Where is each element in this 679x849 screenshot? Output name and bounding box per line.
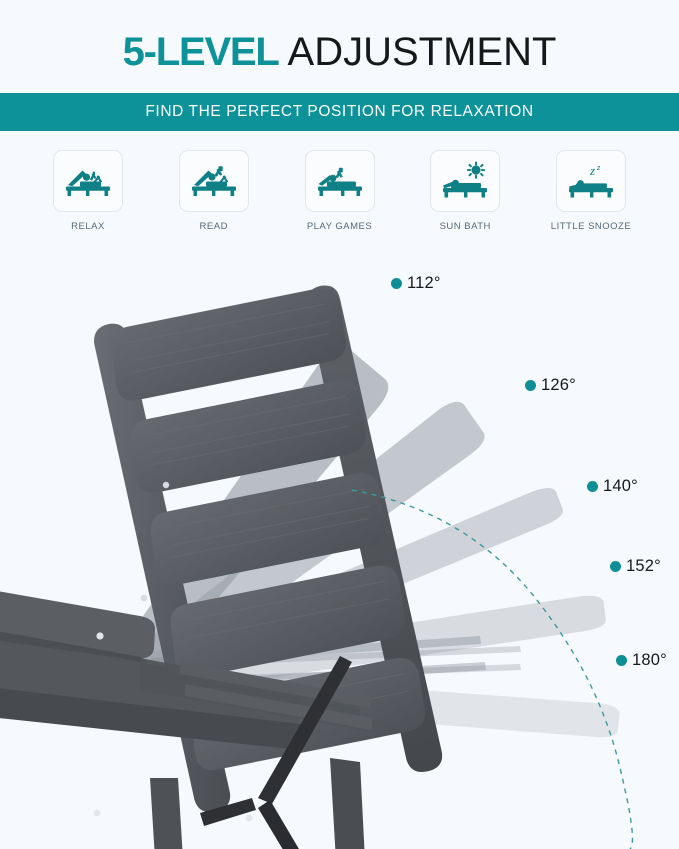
angle-dot xyxy=(610,561,621,572)
mode-item-read: READ xyxy=(162,150,266,232)
person-sleeping-zzz-icon: z z xyxy=(556,150,626,212)
subtitle-text: FIND THE PERFECT POSITION FOR RELAXATION xyxy=(145,103,533,121)
svg-text:z: z xyxy=(596,162,601,172)
angle-dot xyxy=(391,278,402,289)
angle-marker-126: 126° xyxy=(525,376,576,395)
angle-marker-180: 180° xyxy=(616,651,667,670)
subtitle-bar: FIND THE PERFECT POSITION FOR RELAXATION xyxy=(0,93,679,131)
infographic-page: 5-LEVEL ADJUSTMENT FIND THE PERFECT POSI… xyxy=(0,0,679,849)
page-title: 5-LEVEL ADJUSTMENT xyxy=(0,28,679,76)
angle-label: 126° xyxy=(541,376,576,395)
mode-item-play-games: PLAY GAMES xyxy=(288,150,392,232)
angle-marker-140: 140° xyxy=(587,477,638,496)
svg-text:z: z xyxy=(589,163,595,178)
page-title-rest: ADJUSTMENT xyxy=(279,30,557,74)
chair-recline-diagram: 112° 126° 140° 152° 180° xyxy=(0,238,679,849)
angle-dot xyxy=(616,655,627,666)
angle-dot xyxy=(525,380,536,391)
mode-item-sun-bath: SUN BATH xyxy=(413,150,517,232)
person-reading-chair-icon xyxy=(179,150,249,212)
angle-label: 140° xyxy=(603,477,638,496)
angle-label: 180° xyxy=(632,651,667,670)
chair-illustration xyxy=(0,238,679,849)
angle-marker-112: 112° xyxy=(391,274,441,293)
person-sunbathing-sun-icon xyxy=(430,150,500,212)
angle-label: 112° xyxy=(407,274,441,293)
mode-icon-row: RELAX xyxy=(36,150,643,232)
mode-label: READ xyxy=(200,221,228,232)
person-reclining-chair-icon xyxy=(53,150,123,212)
page-title-accent: 5-LEVEL xyxy=(123,30,279,74)
mode-item-relax: RELAX xyxy=(36,150,140,232)
mode-label: PLAY GAMES xyxy=(307,221,372,232)
angle-marker-152: 152° xyxy=(610,557,661,576)
angle-label: 152° xyxy=(626,557,661,576)
person-gaming-chair-icon xyxy=(305,150,375,212)
mode-label: RELAX xyxy=(71,221,105,232)
angle-dot xyxy=(587,481,598,492)
mode-label: SUN BATH xyxy=(440,221,491,232)
mode-item-little-snooze: z z LITTLE SNOOZE xyxy=(539,150,643,232)
mode-label: LITTLE SNOOZE xyxy=(551,221,631,232)
chair-legs xyxy=(150,758,372,849)
